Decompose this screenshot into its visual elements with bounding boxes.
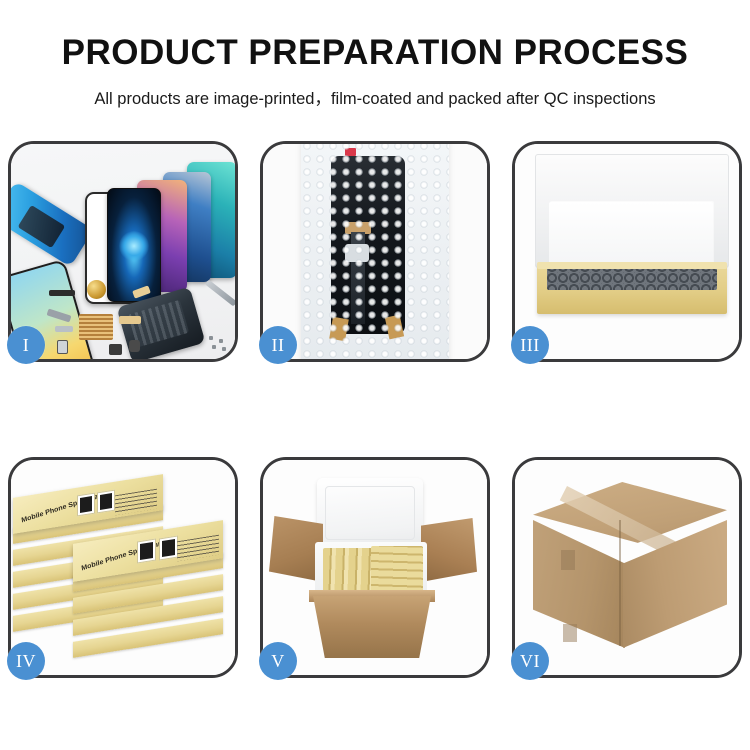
process-step-1[interactable]: I [8,141,238,362]
step-6-image [515,460,739,675]
header: PRODUCT PREPARATION PROCESS All products… [0,0,750,109]
step-4-image: Mobile Phone Spare Parts Mobile Phone Sp… [11,460,235,675]
step-badge-6: VI [511,642,549,680]
process-step-4[interactable]: Mobile Phone Spare Parts Mobile Phone Sp… [8,457,238,678]
carton-flap-right [421,518,477,582]
carton-body [313,596,431,658]
process-grid: I II [8,141,742,678]
gold-coil-part [87,280,106,299]
carton-marking [563,624,577,642]
box-phone-graphic [97,490,115,514]
process-step-5[interactable]: V [260,457,490,678]
white-foam-sheet [549,202,713,268]
bubble-texture [301,144,449,359]
page-subtitle: All products are image-printed，film-coat… [0,85,750,109]
step-badge-3: III [511,326,549,364]
step-2-image [263,144,487,359]
process-step-3[interactable]: III [512,141,742,362]
phone-screen-jellyfish [107,188,161,302]
battery-connector-part [57,340,68,354]
box-phone-graphic [137,538,156,563]
step-badge-4: IV [7,642,45,680]
carton-corner-seam [619,520,621,646]
speaker-part [49,290,75,296]
process-step-2[interactable]: II [260,141,490,362]
copper-mesh-part [79,314,113,340]
carton-marking [561,550,575,570]
step-3-image [515,144,739,359]
box-phone-graphic [77,493,95,517]
flex-cable-part [119,316,141,324]
step-badge-2: II [259,326,297,364]
step-1-image [11,144,235,359]
gold-boxes-inside [371,546,423,592]
bracket-part [55,326,73,332]
step-badge-5: V [259,642,297,680]
vibrator-part [129,340,140,352]
gold-tray-lip [537,262,727,269]
page-title: PRODUCT PREPARATION PROCESS [0,34,750,73]
step-5-image [263,460,487,675]
screws-part [207,334,229,352]
camera-module-part [109,344,122,355]
page-root: PRODUCT PREPARATION PROCESS All products… [0,0,750,750]
step-badge-1: I [7,326,45,364]
process-step-6[interactable]: VI [512,457,742,678]
box-phone-graphic [159,535,178,560]
foam-lid [317,478,423,550]
bubble-wrap-bag [301,144,449,359]
